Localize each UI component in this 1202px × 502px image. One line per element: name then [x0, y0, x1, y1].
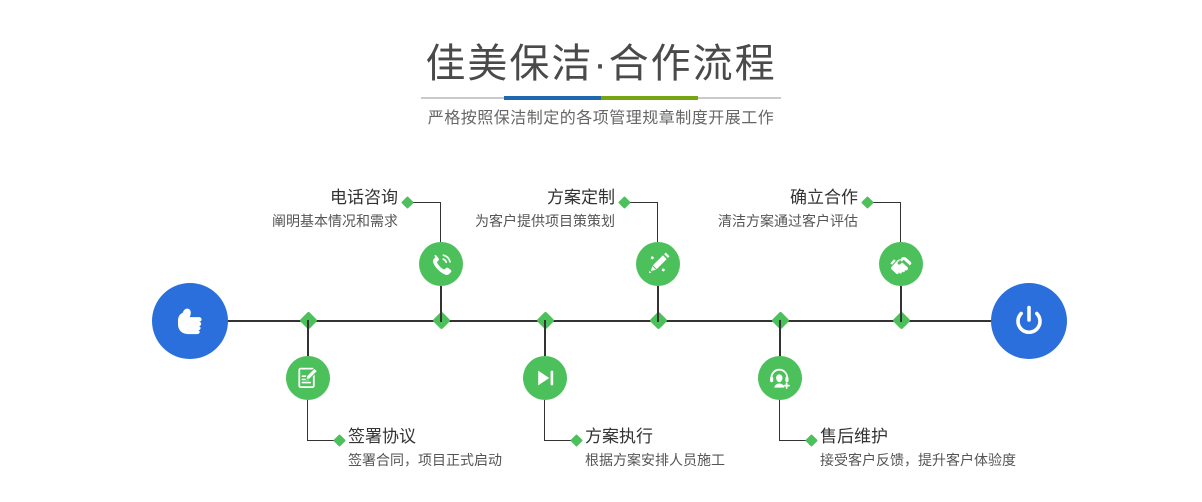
step-title-5: 确立合作 [643, 186, 858, 210]
step-icon-1[interactable] [419, 242, 463, 286]
page-subtitle: 严格按照保洁制定的各项管理规章制度开展工作 [0, 107, 1202, 131]
step-title-3: 方案定制 [400, 186, 615, 210]
step-title-2: 签署协议 [348, 425, 608, 449]
connector-tip [618, 196, 631, 209]
step-desc-1: 阐明基本情况和需求 [183, 210, 398, 232]
connector-horizontal [870, 202, 901, 203]
step-label-5: 确立合作 清洁方案通过客户评估 [643, 186, 858, 232]
step-desc-5: 清洁方案通过客户评估 [643, 210, 858, 232]
connector-tip [861, 196, 874, 209]
handshake-icon [888, 251, 914, 277]
step-desc-6: 接受客户反馈，提升客户体验度 [820, 449, 1110, 471]
step-label-4: 方案执行 根据方案安排人员施工 [585, 425, 845, 471]
step-icon-2[interactable] [286, 356, 330, 400]
step-label-3: 方案定制 为客户提供项目策策划 [400, 186, 615, 232]
power-icon [1008, 300, 1050, 342]
step-icon-3[interactable] [636, 242, 680, 286]
timeline-end-endpoint [991, 283, 1067, 359]
flow-diagram-canvas: 佳美保洁·合作流程 严格按照保洁制定的各项管理规章制度开展工作 [0, 0, 1202, 502]
document-pencil-icon [295, 365, 321, 391]
pencil-design-icon [645, 251, 671, 277]
phone-call-icon [428, 251, 454, 277]
connector-stem [900, 286, 902, 322]
connector-vertical [779, 400, 780, 440]
connector-vertical [544, 400, 545, 440]
connector-vertical [900, 202, 901, 242]
divider-segment-blue [504, 96, 601, 100]
step-title-1: 电话咨询 [183, 186, 398, 210]
connector-vertical [307, 400, 308, 440]
step-icon-5[interactable] [879, 242, 923, 286]
step-icon-4[interactable] [523, 356, 567, 400]
pointing-hand-icon [169, 300, 211, 342]
connector-tip [333, 434, 346, 447]
title-divider [421, 96, 781, 100]
step-title-6: 售后维护 [820, 425, 1110, 449]
step-label-1: 电话咨询 阐明基本情况和需求 [183, 186, 398, 232]
connector-stem [544, 320, 546, 356]
divider-segment-green [601, 96, 698, 100]
step-desc-3: 为客户提供项目策策划 [400, 210, 615, 232]
step-label-2: 签署协议 签署合同，项目正式启动 [348, 425, 608, 471]
connector-stem [657, 286, 659, 322]
step-desc-4: 根据方案安排人员施工 [585, 449, 845, 471]
page-title: 佳美保洁·合作流程 [0, 38, 1202, 90]
customer-service-add-icon [767, 365, 793, 391]
play-skip-icon [532, 365, 558, 391]
connector-stem [779, 320, 781, 356]
step-label-6: 售后维护 接受客户反馈，提升客户体验度 [820, 425, 1110, 471]
step-desc-2: 签署合同，项目正式启动 [348, 449, 608, 471]
step-icon-6[interactable] [758, 356, 802, 400]
timeline-start-endpoint [152, 283, 228, 359]
step-title-4: 方案执行 [585, 425, 845, 449]
connector-stem [307, 320, 309, 356]
connector-stem [440, 286, 442, 322]
